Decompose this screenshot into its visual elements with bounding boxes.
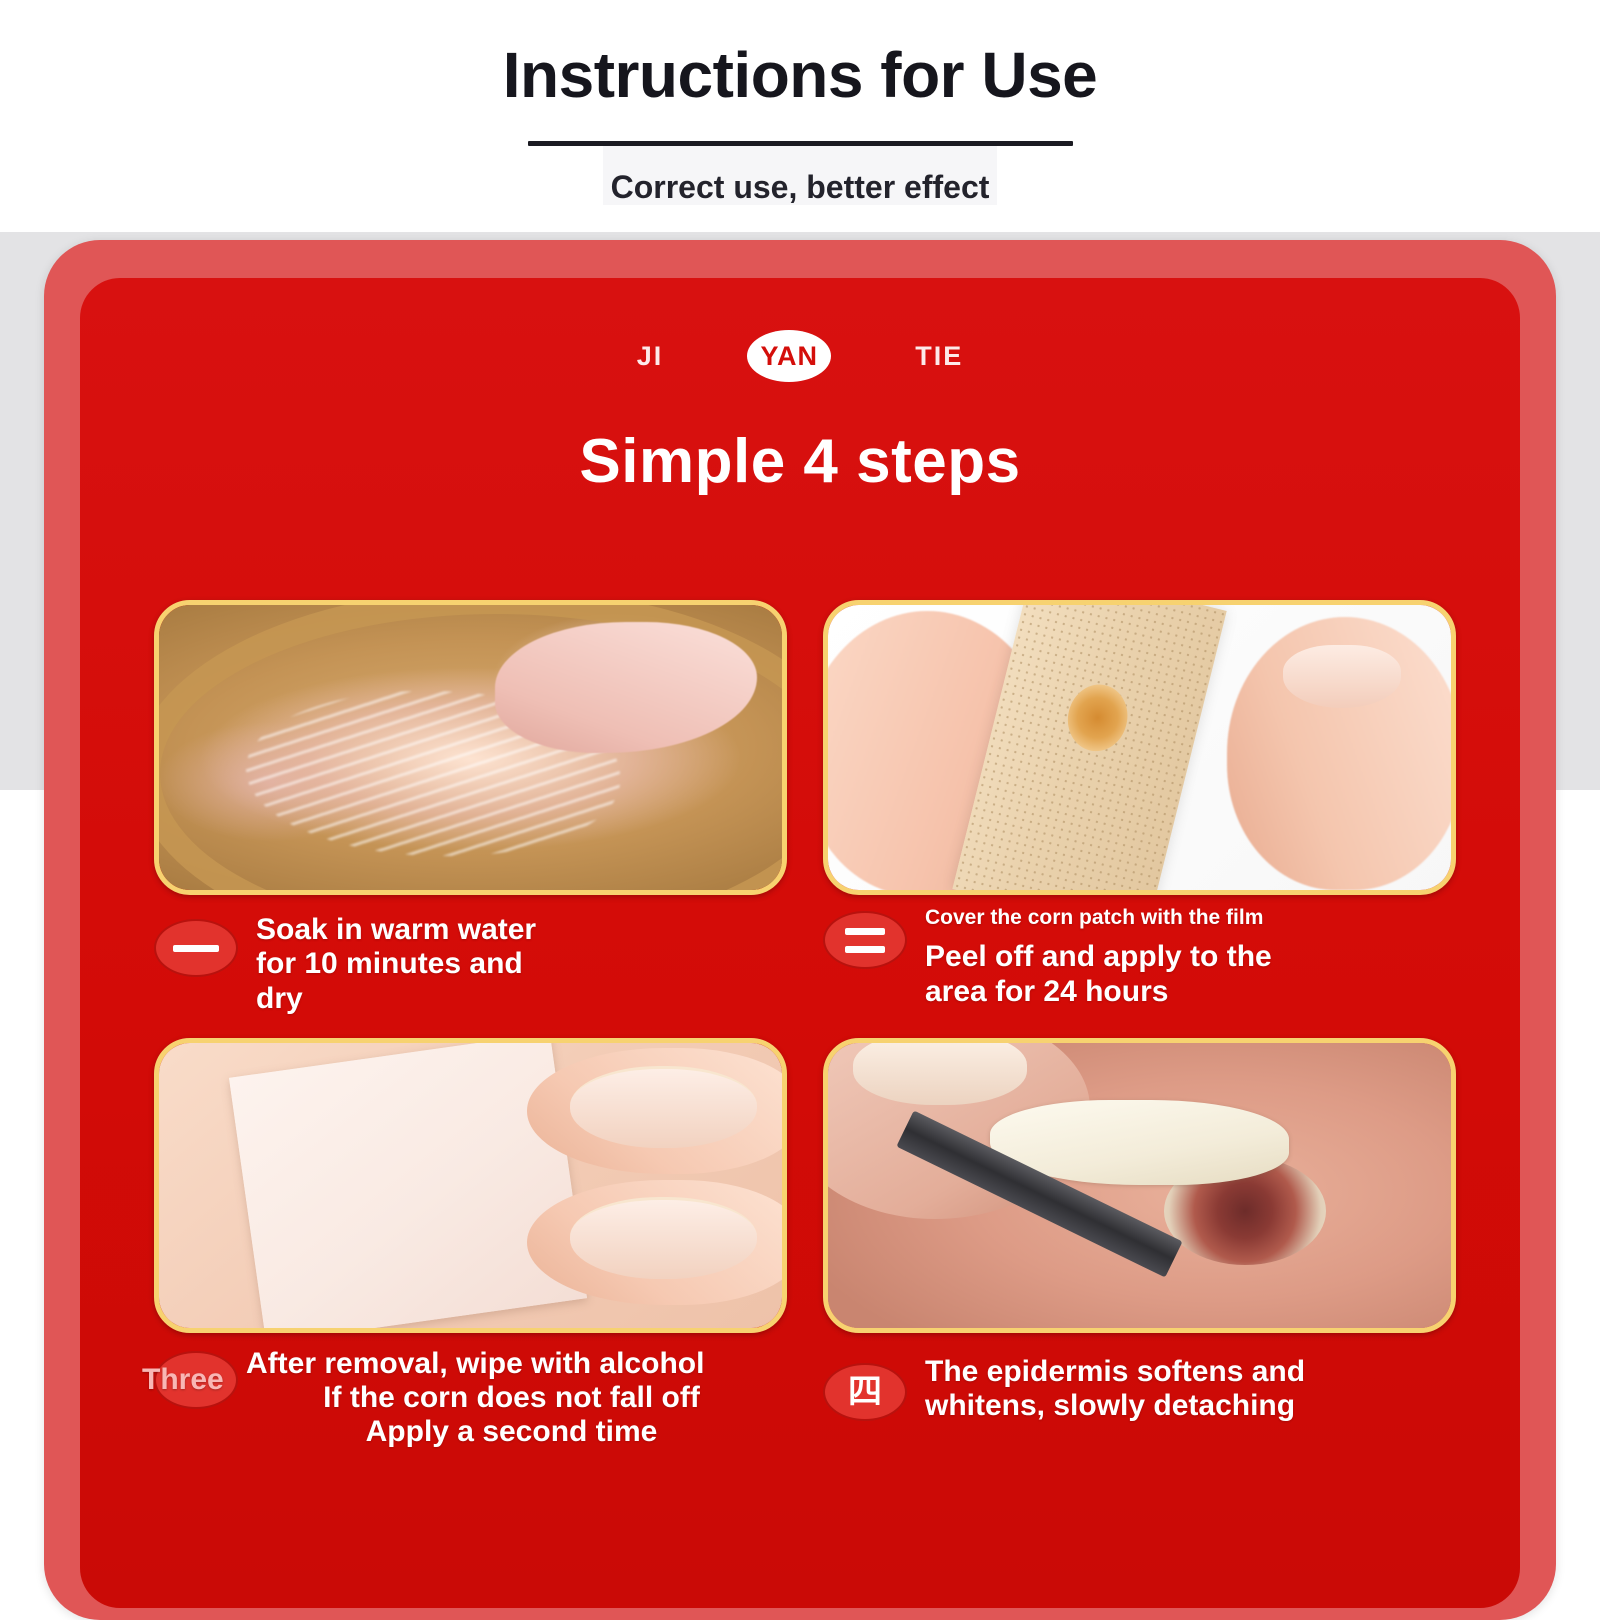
page-title: Instructions for Use	[0, 0, 1600, 109]
step-caption-3: Three After removal, wipe with alcohol I…	[154, 1333, 777, 1450]
caption-line: Soak in warm water	[256, 913, 777, 947]
step-badge-4: 四	[823, 1363, 907, 1421]
numeral-two-icon	[845, 928, 885, 953]
numeral-two-stroke-top	[845, 928, 885, 935]
step-caption-4: 四 The epidermis softens and whitens, slo…	[823, 1333, 1446, 1423]
toenail-shape	[853, 1038, 1027, 1106]
steps-grid: Soak in warm water for 10 minutes and dr…	[80, 496, 1520, 1449]
instructions-card-frame: JI YAN TIE Simple 4 steps	[44, 240, 1556, 1620]
step-photo-frame-4	[823, 1038, 1456, 1333]
step-caption-text-3: After removal, wipe with alcohol If the …	[246, 1347, 777, 1450]
patch-on-skin-photo	[159, 1043, 782, 1328]
caption-line: If the corn does not fall off	[246, 1381, 777, 1415]
fingernail-shape-lower	[570, 1197, 757, 1280]
numeral-four-icon: 四	[848, 1375, 882, 1409]
numeral-one-icon	[173, 945, 219, 952]
corn-patch-photo	[828, 605, 1451, 890]
step-caption-text-4: The epidermis softens and whitens, slowl…	[925, 1355, 1446, 1423]
step-badge-1	[154, 919, 238, 977]
step-photo-frame-3	[154, 1038, 787, 1333]
step-caption-text-2: Cover the corn patch with the film Peel …	[925, 905, 1446, 1009]
caption-line: Peel off and apply to the	[925, 940, 1446, 974]
caption-line: whitens, slowly detaching	[925, 1389, 1446, 1423]
caption-line: dry	[256, 982, 777, 1016]
brand-word-left: JI	[637, 341, 664, 372]
fingernail-shape	[1283, 645, 1401, 708]
step-caption-2: Cover the corn patch with the film Peel …	[823, 895, 1446, 1009]
step-card-1: Soak in warm water for 10 minutes and dr…	[154, 600, 777, 1016]
caption-line: The epidermis softens and	[925, 1355, 1446, 1389]
caption-line: After removal, wipe with alcohol	[246, 1347, 777, 1381]
step-caption-1: Soak in warm water for 10 minutes and dr…	[154, 895, 777, 1016]
brand-word-right: TIE	[915, 341, 963, 372]
page-header: Instructions for Use Correct use, better…	[0, 0, 1600, 232]
instructions-card: JI YAN TIE Simple 4 steps	[80, 278, 1520, 1608]
corn-removal-photo	[828, 1043, 1451, 1328]
page-subtitle: Correct use, better effect	[603, 146, 998, 205]
numeral-three-label: Three	[142, 1363, 224, 1397]
step-badge-2	[823, 911, 907, 969]
step-photo-frame-2	[823, 600, 1456, 895]
step-badge-3: Three	[154, 1351, 238, 1409]
brand-pill: YAN	[747, 330, 831, 382]
caption-line: Apply a second time	[246, 1415, 777, 1449]
fingernail-shape-upper	[570, 1066, 757, 1149]
caption-line: for 10 minutes and	[256, 947, 777, 981]
step-card-4: 四 The epidermis softens and whitens, slo…	[823, 1038, 1446, 1450]
white-patch-shape	[229, 1038, 587, 1333]
caption-line: Cover the corn patch with the film	[925, 905, 1446, 930]
numeral-two-stroke-bottom	[845, 946, 885, 953]
brand-pill-label: YAN	[760, 341, 818, 372]
step-card-3: Three After removal, wipe with alcohol I…	[154, 1038, 777, 1450]
foot-soaking-photo	[159, 605, 782, 890]
steps-heading: Simple 4 steps	[80, 382, 1520, 496]
step-caption-text-1: Soak in warm water for 10 minutes and dr…	[256, 913, 777, 1016]
step-photo-frame-1	[154, 600, 787, 895]
step-card-2: Cover the corn patch with the film Peel …	[823, 600, 1446, 1016]
caption-line: area for 24 hours	[925, 975, 1446, 1009]
brand-row: JI YAN TIE	[80, 278, 1520, 382]
